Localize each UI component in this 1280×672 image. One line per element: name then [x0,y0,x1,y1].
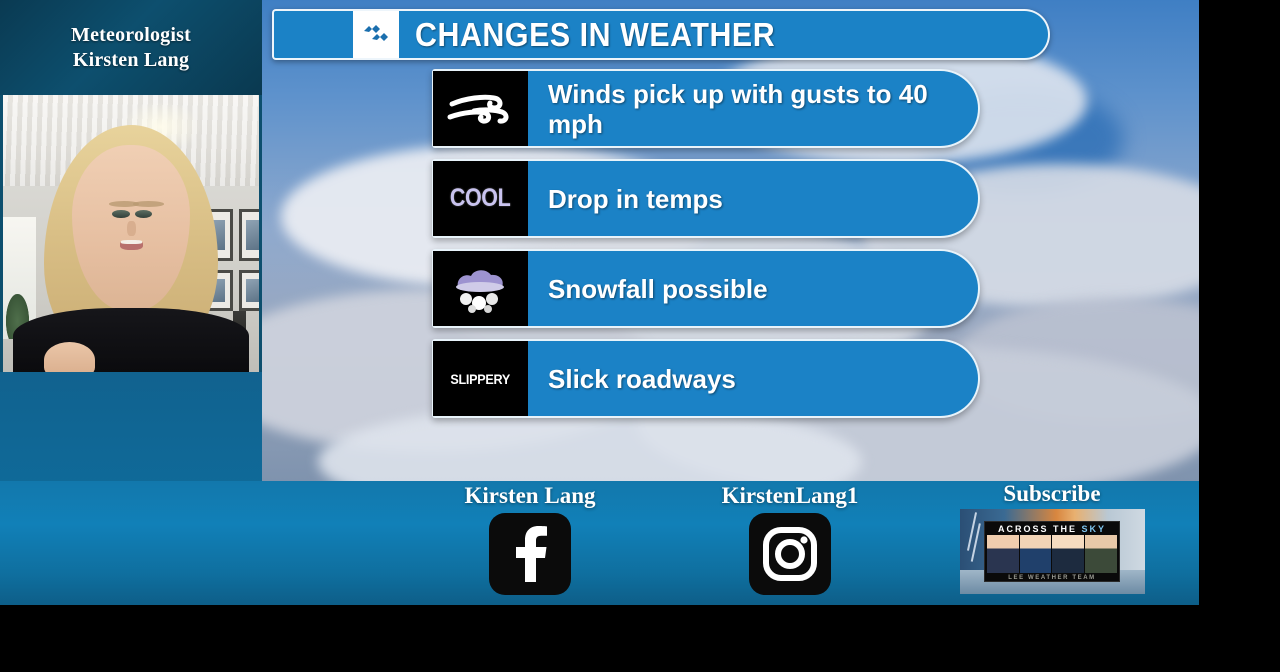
weather-row-label: Snowfall possible [548,274,768,304]
instagram-label: KirstenLang1 [690,483,890,509]
snow-cloud-icon [433,251,528,326]
weather-graphic-panel: CHANGES IN WEATHER Winds pick up with gu… [262,0,1199,481]
weather-row-label: Drop in temps [548,184,723,214]
social-bar: Kirsten Lang KirstenLang1 Subscribe [0,481,1199,605]
instagram-icon[interactable] [749,513,831,595]
podcast-title-main: ACROSS THE [998,524,1082,534]
letterbox-bottom [0,605,1280,672]
presenter-webcam [0,95,262,372]
nose [127,221,135,236]
host-photo [987,535,1019,573]
weather-row-snow: Snowfall possible [432,249,980,328]
social-subscribe[interactable]: Subscribe ACROSS THE SKY LEE WEATHER TEA… [952,481,1152,594]
weather-rows: Winds pick up with gusts to 40 mph COOL … [432,69,980,429]
podcast-host-photos [987,535,1118,573]
mouth [120,240,142,250]
wind-gust-icon [433,71,528,146]
presenter-figure [3,95,259,372]
presenter-name: Kirsten Lang [73,48,189,73]
graphic-title-bar: CHANGES IN WEATHER [272,9,1050,60]
podcast-title: ACROSS THE SKY [985,524,1120,534]
facebook-label: Kirsten Lang [430,483,630,509]
subscribe-label: Subscribe [952,481,1152,507]
facebook-icon[interactable] [489,513,571,595]
eye [135,210,153,218]
face [72,145,190,311]
eye [112,210,130,218]
lightning-icon [967,513,977,552]
subscribe-thumbnail[interactable]: ACROSS THE SKY LEE WEATHER TEAM [960,509,1145,594]
host-photo [1052,535,1084,573]
presenter-role: Meteorologist [71,23,191,48]
weather-zigzag-logo-icon [353,11,399,58]
slippery-road-icon: SLIPPERY [433,341,528,416]
podcast-title-accent: SKY [1081,524,1106,534]
graphic-title: CHANGES IN WEATHER [415,16,775,54]
eyebrow [133,201,164,207]
cool-icon-text: COOL [450,184,510,213]
cool-temperature-icon: COOL [433,161,528,236]
host-photo [1085,535,1117,573]
social-instagram[interactable]: KirstenLang1 [690,483,890,595]
weather-row-wind: Winds pick up with gusts to 40 mph [432,69,980,148]
podcast-subtitle: LEE WEATHER TEAM [985,575,1120,581]
podcast-card: ACROSS THE SKY LEE WEATHER TEAM [984,521,1121,582]
weather-row-label: Slick roadways [548,364,736,394]
teeth [121,240,142,244]
letterbox-right [1199,0,1280,672]
slippery-icon-text: SLIPPERY [451,371,511,387]
presenter-nameplate: Meteorologist Kirsten Lang [0,0,262,95]
weather-row-cool: COOL Drop in temps [432,159,980,238]
broadcast-screen: Meteorologist Kirsten Lang [0,0,1280,672]
host-photo [1020,535,1052,573]
weather-row-label: Winds pick up with gusts to 40 mph [548,79,978,139]
social-facebook[interactable]: Kirsten Lang [430,483,630,595]
weather-row-slippery: SLIPPERY Slick roadways [432,339,980,418]
